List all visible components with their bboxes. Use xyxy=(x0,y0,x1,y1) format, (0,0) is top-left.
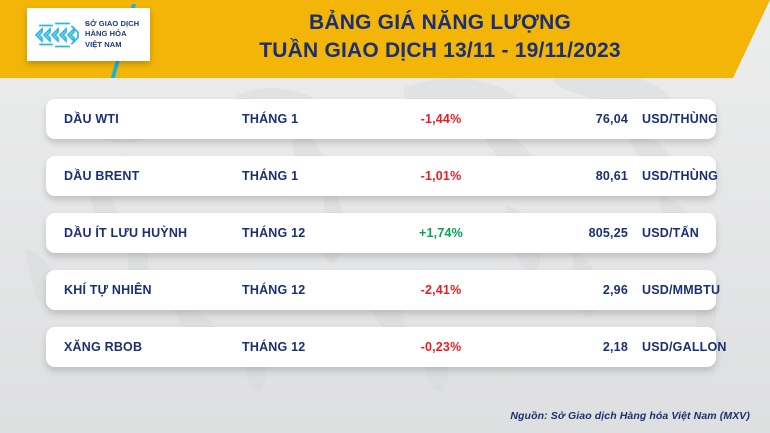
table-row[interactable]: DẦU WTITHÁNG 1-1,44%76,04USD/THÙNG xyxy=(46,99,716,139)
price-value: 805,25 xyxy=(516,226,628,240)
header: SỞ GIAO DỊCH HÀNG HÓA VIỆT NAM ™ BẢNG GI… xyxy=(0,0,770,78)
price-value: 80,61 xyxy=(516,169,628,183)
commodity-name: DẦU BRENT xyxy=(64,169,139,183)
contract-month: THÁNG 12 xyxy=(242,283,305,297)
mxv-logo-text: SỞ GIAO DỊCH HÀNG HÓA VIỆT NAM xyxy=(85,19,139,49)
source-note: Nguồn: Sở Giao dịch Hàng hóa Việt Nam (M… xyxy=(510,410,750,422)
page-title: BẢNG GIÁ NĂNG LƯỢNG TUẦN GIAO DỊCH 13/11… xyxy=(150,9,730,66)
contract-month: THÁNG 1 xyxy=(242,112,298,126)
trademark-symbol: ™ xyxy=(84,22,89,28)
table-row[interactable]: KHÍ TỰ NHIÊNTHÁNG 12-2,41%2,96USD/MMBTU xyxy=(46,270,716,310)
contract-month: THÁNG 12 xyxy=(242,340,305,354)
price-unit: USD/GALLON xyxy=(642,340,727,354)
commodity-name: KHÍ TỰ NHIÊN xyxy=(64,283,152,297)
commodity-name: XĂNG RBOB xyxy=(64,340,142,354)
change-percent: -1,01% xyxy=(386,169,496,183)
price-unit: USD/TẤN xyxy=(642,226,699,240)
commodity-name: DẦU WTI xyxy=(64,112,119,126)
table-row[interactable]: XĂNG RBOBTHÁNG 12-0,23%2,18USD/GALLON xyxy=(46,327,716,367)
contract-month: THÁNG 1 xyxy=(242,169,298,183)
change-percent: -1,44% xyxy=(386,112,496,126)
contract-month: THÁNG 12 xyxy=(242,226,305,240)
mxv-logo: SỞ GIAO DỊCH HÀNG HÓA VIỆT NAM ™ xyxy=(27,8,150,61)
price-table: DẦU WTITHÁNG 1-1,44%76,04USD/THÙNGDẦU BR… xyxy=(46,99,716,384)
energy-price-board: SỞ GIAO DỊCH HÀNG HÓA VIỆT NAM ™ BẢNG GI… xyxy=(0,0,770,433)
title-line-1: BẢNG GIÁ NĂNG LƯỢNG xyxy=(150,9,730,37)
table-row[interactable]: DẦU ÍT LƯU HUỲNHTHÁNG 12+1,74%805,25USD/… xyxy=(46,213,716,253)
change-percent: +1,74% xyxy=(386,226,496,240)
price-unit: USD/THÙNG xyxy=(642,112,718,126)
change-percent: -0,23% xyxy=(386,340,496,354)
price-value: 2,18 xyxy=(516,340,628,354)
price-unit: USD/THÙNG xyxy=(642,169,718,183)
logo-line-2: HÀNG HÓA xyxy=(85,29,139,39)
table-row[interactable]: DẦU BRENTTHÁNG 1-1,01%80,61USD/THÙNG xyxy=(46,156,716,196)
logo-line-3: VIỆT NAM xyxy=(85,40,139,50)
price-unit: USD/MMBTU xyxy=(642,283,720,297)
logo-line-1: SỞ GIAO DỊCH xyxy=(85,19,139,29)
price-value: 2,96 xyxy=(516,283,628,297)
title-line-2: TUẦN GIAO DỊCH 13/11 - 19/11/2023 xyxy=(150,37,730,65)
mxv-wave-logo-icon xyxy=(34,19,81,51)
change-percent: -2,41% xyxy=(386,283,496,297)
commodity-name: DẦU ÍT LƯU HUỲNH xyxy=(64,226,187,240)
price-value: 76,04 xyxy=(516,112,628,126)
